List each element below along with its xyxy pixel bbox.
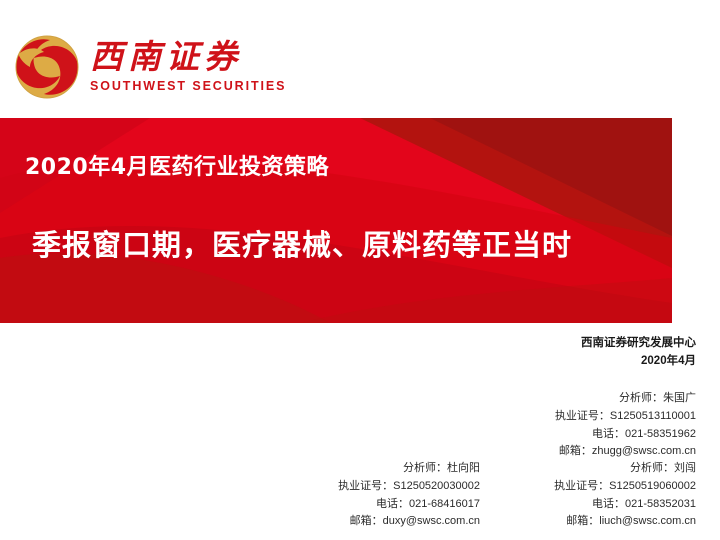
analyst-phone: 电话：021-68416017 [338,496,480,514]
southwest-securities-swirl-logo [14,34,80,100]
title-banner: 2020年4月医药行业投资策略 季报窗口期，医疗器械、原料药等正当时 [0,118,672,323]
report-date: 2020年4月 [581,353,696,371]
organization-block: 西南证券研究发展中心 2020年4月 [581,335,696,371]
analyst-name: 分析师：刘闯 [554,460,696,478]
analyst-block-2: 分析师：杜向阳 执业证号：S1250520030002 电话：021-68416… [338,460,480,531]
brand-wordmark: 西南证券 SOUTHWEST SECURITIES [90,41,286,94]
analyst-license: 执业证号：S1250520030002 [338,478,480,496]
analyst-license: 执业证号：S1250513110001 [555,408,696,426]
analyst-email[interactable]: 邮箱：liuch@swsc.com.cn [554,513,696,531]
analyst-block-3: 分析师：刘闯 执业证号：S1250519060002 电话：021-583520… [554,460,696,531]
brand-name-cn: 西南证券 [90,41,286,76]
analyst-phone: 电话：021-58351962 [555,426,696,444]
analyst-email[interactable]: 邮箱：duxy@swsc.com.cn [338,513,480,531]
analyst-phone: 电话：021-58352031 [554,496,696,514]
analyst-license: 执业证号：S1250519060002 [554,478,696,496]
brand-name-en: SOUTHWEST SECURITIES [90,79,286,93]
brand-logo: 西南证券 SOUTHWEST SECURITIES [14,34,286,100]
analyst-name: 分析师：朱国广 [555,390,696,408]
analyst-email[interactable]: 邮箱：zhugg@swsc.com.cn [555,443,696,461]
slide-header: 西南证券 SOUTHWEST SECURITIES [0,0,720,118]
page-title: 2020年4月医药行业投资策略 [25,149,329,181]
page-subtitle: 季报窗口期，医疗器械、原料药等正当时 [32,222,572,264]
analyst-block-1: 分析师：朱国广 执业证号：S1250513110001 电话：021-58351… [555,390,696,461]
analyst-name: 分析师：杜向阳 [338,460,480,478]
organization-name: 西南证券研究发展中心 [581,335,696,353]
